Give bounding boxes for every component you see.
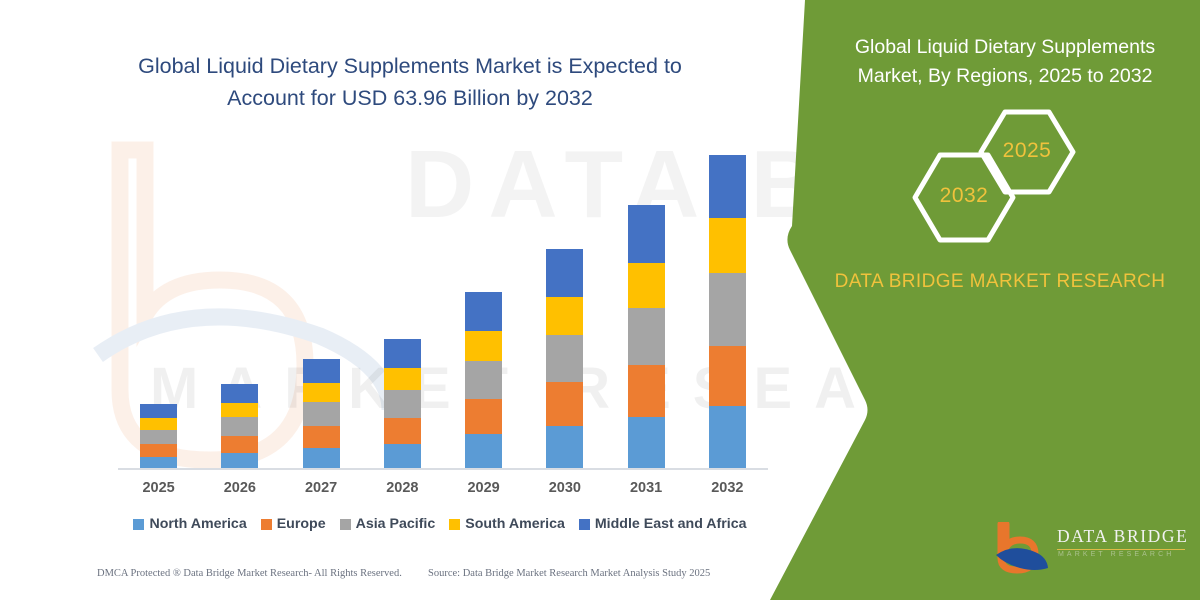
legend-swatch-icon (340, 519, 351, 530)
bar-segment-2028-north-america[interactable] (384, 444, 421, 470)
bar-segment-2027-asia-pacific[interactable] (303, 402, 340, 426)
bar-segment-2025-south-america[interactable] (140, 418, 177, 429)
bar-segment-2029-europe[interactable] (465, 399, 502, 434)
legend-item-south-america[interactable]: South America (449, 516, 565, 532)
bar-segment-2031-north-america[interactable] (628, 417, 665, 470)
hex-badge-2032: 2032 (910, 150, 1018, 245)
legend-item-asia-pacific[interactable]: Asia Pacific (340, 516, 436, 532)
legend-label: Europe (277, 516, 326, 532)
dbmr-rule (1057, 549, 1185, 550)
legend-label: North America (149, 516, 246, 532)
bar-segment-2030-europe[interactable] (546, 382, 583, 425)
bar-segment-2027-south-america[interactable] (303, 383, 340, 402)
bar-segment-2032-north-america[interactable] (709, 406, 746, 470)
bar-segment-2029-south-america[interactable] (465, 331, 502, 361)
bar-2026[interactable] (221, 384, 258, 470)
x-tick-2030: 2030 (530, 480, 600, 496)
bar-segment-2028-asia-pacific[interactable] (384, 390, 421, 419)
bar-segment-2025-middle-east-and-africa[interactable] (140, 404, 177, 418)
hexagon-outline-icon (910, 150, 1018, 245)
bar-2025[interactable] (140, 404, 177, 470)
bar-segment-2026-europe[interactable] (221, 436, 258, 453)
legend-item-europe[interactable]: Europe (261, 516, 326, 532)
bar-segment-2031-europe[interactable] (628, 365, 665, 417)
bar-2027[interactable] (303, 359, 340, 470)
bar-segment-2029-middle-east-and-africa[interactable] (465, 292, 502, 331)
x-tick-2032: 2032 (692, 480, 762, 496)
x-tick-2027: 2027 (286, 480, 356, 496)
legend-label: Asia Pacific (356, 516, 436, 532)
bar-segment-2028-middle-east-and-africa[interactable] (384, 339, 421, 368)
bar-segment-2032-asia-pacific[interactable] (709, 273, 746, 346)
bar-2031[interactable] (628, 205, 665, 470)
bar-segment-2026-south-america[interactable] (221, 403, 258, 418)
bar-segment-2026-middle-east-and-africa[interactable] (221, 384, 258, 403)
dbmr-b-mark-icon (995, 522, 1053, 574)
panel-title: Global Liquid Dietary Supplements Market… (835, 33, 1175, 91)
bar-segment-2026-asia-pacific[interactable] (221, 417, 258, 436)
dbmr-logo: DATA BRIDGE MARKET RESEARCH (995, 518, 1195, 578)
legend-item-north-america[interactable]: North America (133, 516, 246, 532)
bar-2032[interactable] (709, 155, 746, 470)
legend-swatch-icon (449, 519, 460, 530)
x-tick-2031: 2031 (611, 480, 681, 496)
footer: DMCA Protected ® Data Bridge Market Rese… (0, 568, 800, 590)
legend-item-middle-east-and-africa[interactable]: Middle East and Africa (579, 516, 747, 532)
bar-segment-2031-south-america[interactable] (628, 263, 665, 308)
x-tick-2028: 2028 (367, 480, 437, 496)
bar-segment-2032-south-america[interactable] (709, 218, 746, 272)
hex-label-2025: 2025 (977, 139, 1077, 163)
bar-segment-2029-asia-pacific[interactable] (465, 361, 502, 399)
hex-label-2032: 2032 (910, 184, 1018, 208)
hexagon-outline-icon (977, 108, 1077, 196)
bar-segment-2027-middle-east-and-africa[interactable] (303, 359, 340, 383)
legend-swatch-icon (261, 519, 272, 530)
bar-segment-2030-south-america[interactable] (546, 297, 583, 334)
bar-2028[interactable] (384, 339, 421, 470)
legend-label: South America (465, 516, 565, 532)
legend-swatch-icon (133, 519, 144, 530)
x-tick-2025: 2025 (124, 480, 194, 496)
bar-segment-2027-europe[interactable] (303, 426, 340, 448)
legend-label: Middle East and Africa (595, 516, 747, 532)
green-panel-shape (770, 0, 1200, 600)
bar-segment-2030-middle-east-and-africa[interactable] (546, 249, 583, 297)
bar-segment-2025-europe[interactable] (140, 444, 177, 457)
infographic-canvas: DATA BRIDGE MARKET RESEARCH Global Liqui… (0, 0, 1200, 600)
hex-badge-2025: 2025 (977, 108, 1077, 196)
bar-segment-2025-asia-pacific[interactable] (140, 430, 177, 444)
dbmr-tagline: MARKET RESEARCH (1058, 551, 1174, 558)
x-tick-2029: 2029 (449, 480, 519, 496)
bar-segment-2028-europe[interactable] (384, 418, 421, 444)
legend-swatch-icon (579, 519, 590, 530)
right-green-panel: Global Liquid Dietary Supplements Market… (770, 0, 1200, 600)
bar-segment-2028-south-america[interactable] (384, 368, 421, 390)
dbmr-wordmark: DATA BRIDGE (1057, 526, 1188, 547)
bar-2029[interactable] (465, 292, 502, 470)
panel-brand-name: DATA BRIDGE MARKET RESEARCH (830, 268, 1170, 296)
bar-chart-plot-area (118, 140, 768, 470)
bar-segment-2027-north-america[interactable] (303, 448, 340, 470)
bar-segment-2032-europe[interactable] (709, 346, 746, 407)
x-axis-line (118, 468, 768, 470)
bar-segment-2030-asia-pacific[interactable] (546, 335, 583, 383)
bar-segment-2032-middle-east-and-africa[interactable] (709, 155, 746, 219)
page-title: Global Liquid Dietary Supplements Market… (100, 50, 720, 114)
x-tick-2026: 2026 (205, 480, 275, 496)
bar-segment-2031-asia-pacific[interactable] (628, 308, 665, 365)
footer-source: Source: Data Bridge Market Research Mark… (428, 568, 710, 579)
chart-legend: North AmericaEuropeAsia PacificSouth Ame… (110, 513, 770, 535)
footer-copyright: DMCA Protected ® Data Bridge Market Rese… (97, 568, 402, 579)
bar-2030[interactable] (546, 249, 583, 470)
bar-segment-2030-north-america[interactable] (546, 426, 583, 470)
bar-segment-2031-middle-east-and-africa[interactable] (628, 205, 665, 263)
x-axis-tick-labels: 20252026202720282029203020312032 (118, 480, 768, 502)
hexagon-badges: 2032 2025 (800, 108, 1200, 238)
bar-segment-2029-north-america[interactable] (465, 434, 502, 470)
